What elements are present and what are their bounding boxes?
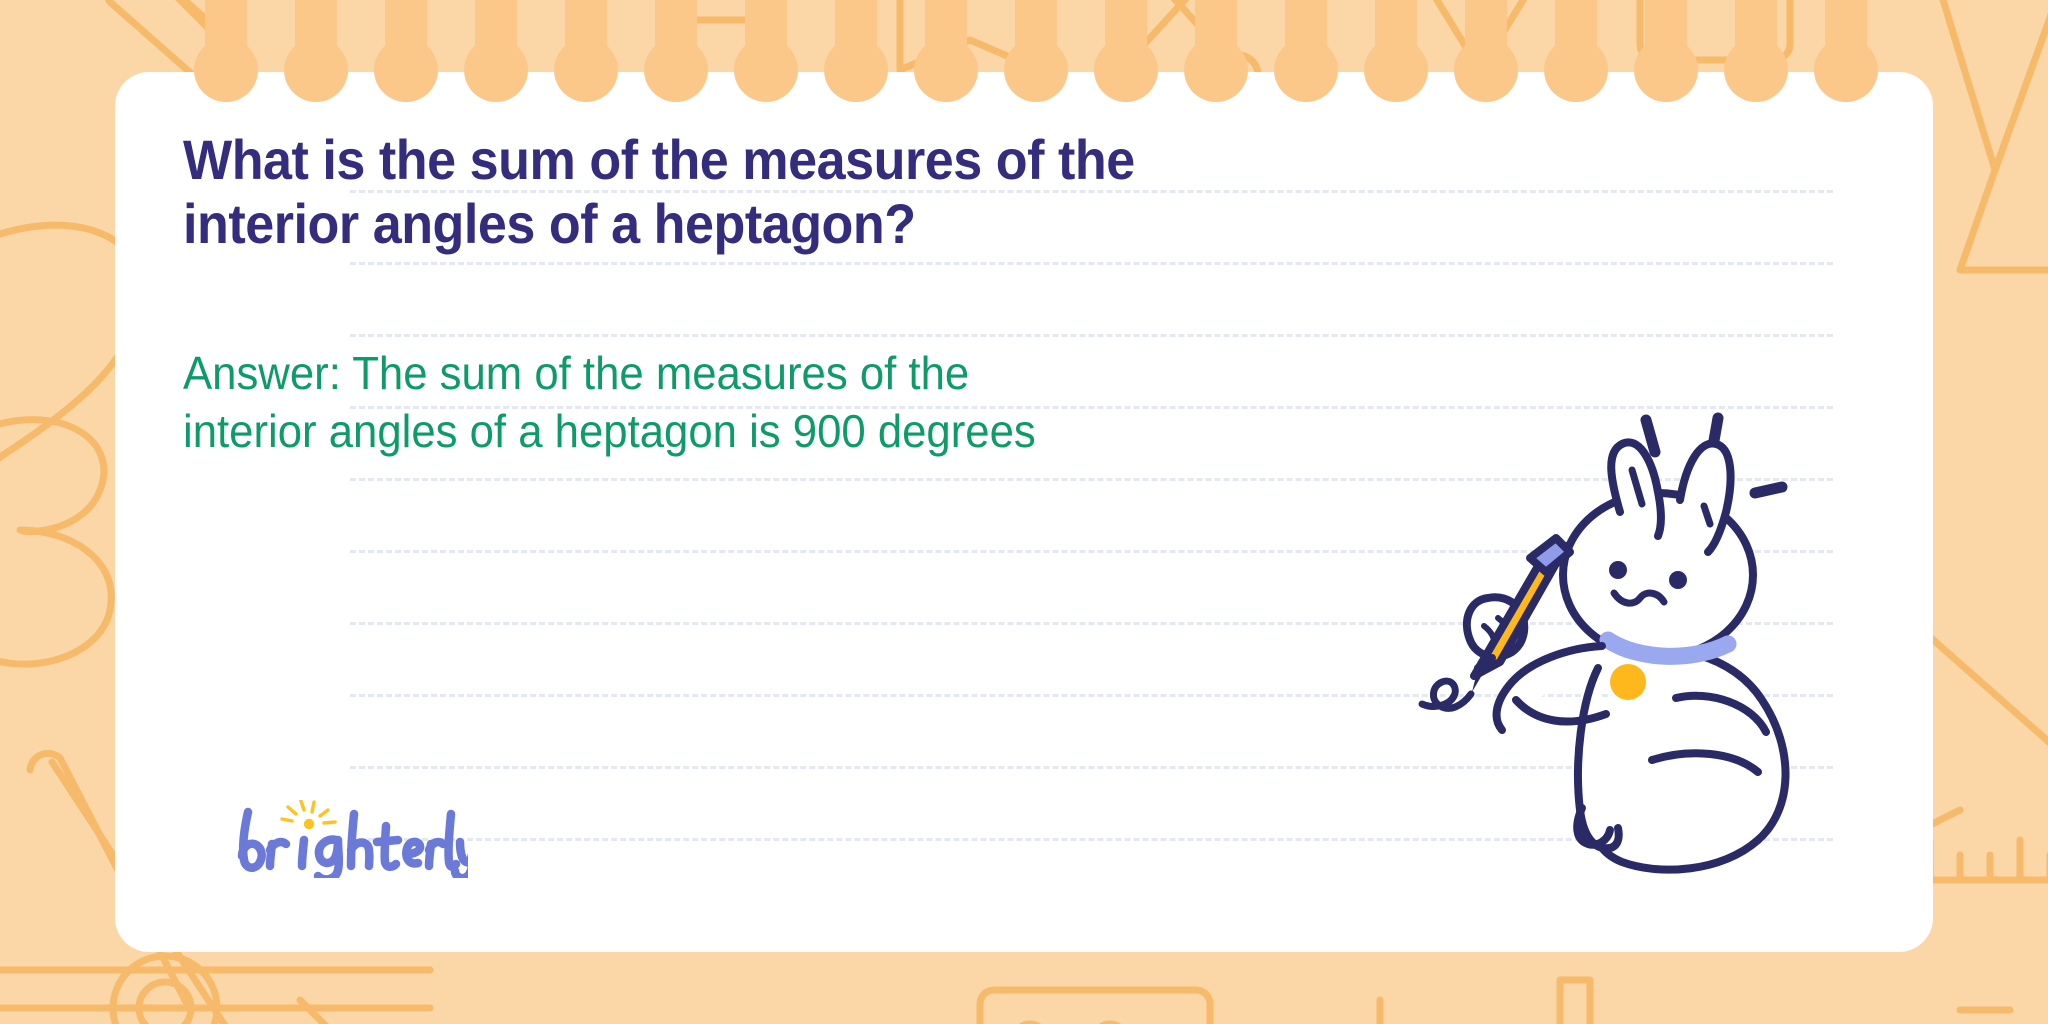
- pencil-doodle-bottom-left: [300, 1000, 420, 1024]
- pencil-scribble: [1422, 681, 1471, 708]
- sun-dot: [304, 819, 314, 829]
- question-text: What is the sum of the measures of the i…: [183, 128, 1411, 256]
- number-three-doodle: [0, 420, 111, 664]
- abacus-doodle-bottom: [980, 990, 1210, 1024]
- eraser-lines-doodle: [0, 970, 430, 1024]
- bunny-eye-right: [1669, 571, 1687, 589]
- check-doodle-right: [1940, 0, 2048, 270]
- brighterly-logo[interactable]: [232, 800, 468, 878]
- answer-text: Answer: The sum of the measures of the i…: [183, 344, 1437, 460]
- flask-doodle-bottom: [1500, 980, 1650, 1024]
- collar-tag-icon: [1610, 664, 1646, 700]
- poster-canvas: What is the sum of the measures of the i…: [0, 0, 2048, 1024]
- paperclip-doodle: [106, 0, 250, 80]
- plus-doodle-bottom: [1325, 1000, 1435, 1024]
- bunny-eye-left: [1609, 561, 1627, 579]
- calculator-doodle-top: [1640, 0, 1790, 60]
- bunny-mascot: [1370, 400, 1850, 890]
- logo-wordmark: [242, 812, 468, 878]
- triangle-ruler-doodle-top: [1400, 0, 1560, 70]
- card-content: What is the sum of the measures of the i…: [183, 128, 1503, 460]
- book-doodle-top: [900, 0, 1040, 70]
